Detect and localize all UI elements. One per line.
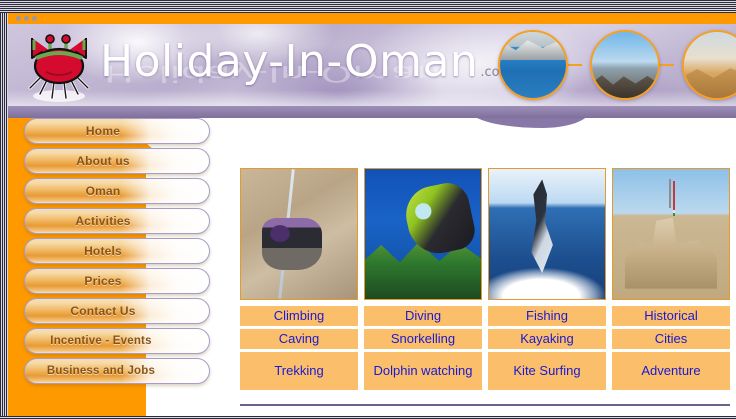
sidebar-item-label: Prices [84,274,121,288]
sidebar-item-label: About us [76,154,130,168]
photo-historical-fort-image [613,169,729,299]
window-dot-1[interactable] [16,16,21,21]
page-root: Holiday-In-Oman Holiday-In-Oman.com Home… [0,0,736,419]
activity-link-dolphin-watching[interactable]: Dolphin watching [364,352,482,390]
window-control-dots[interactable] [16,16,37,21]
sidebar-item-prices[interactable]: Prices [24,268,210,294]
activity-link-climbing[interactable]: Climbing [240,306,358,326]
sidebar-item-label: Home [86,124,120,138]
sidebar-item-label: Activities [75,214,130,228]
sidebar-item-label: Contact Us [70,304,135,318]
site-title-text: Holiday-In-Oman [100,36,478,87]
sidebar-item-label: Oman [86,184,121,198]
activities-label-row-3: Trekking Dolphin watching Kite Surfing A… [240,349,730,390]
header-circle-gallery [476,30,736,102]
page-title: Holiday-In-Oman.com [100,38,512,97]
circle-photo-rocky-coast-image [592,32,658,98]
sidebar-item-label: Hotels [84,244,122,258]
photo-climbing[interactable] [240,168,358,300]
main-content: Climbing Diving Fishing Historical Cavin… [164,118,736,419]
sidebar-item-contact-us[interactable]: Contact Us [24,298,210,324]
activity-link-kayaking[interactable]: Kayaking [488,329,606,349]
photo-fishing-image [489,169,605,299]
crab-icon [20,28,98,104]
photo-historical-fort[interactable] [612,168,730,300]
activities-grid: Climbing Diving Fishing Historical Cavin… [240,168,730,390]
sidebar-item-home[interactable]: Home [24,118,210,144]
circle-photo-desert-image [684,32,736,98]
activity-link-snorkelling[interactable]: Snorkelling [364,329,482,349]
sidebar-item-oman[interactable]: Oman [24,178,210,204]
photo-climbing-image [241,169,357,299]
activities-label-row-2: Caving Snorkelling Kayaking Cities [240,326,730,349]
window-orange-bar [8,13,736,24]
photo-diving[interactable] [364,168,482,300]
circle-photo-rocky-coast[interactable] [590,30,660,100]
window-left-stripes [0,13,8,419]
activities-photo-row [240,168,730,300]
content-divider [240,404,730,406]
sidebar-item-about-us[interactable]: About us [24,148,210,174]
photo-diving-image [365,169,481,299]
site-masthead: Holiday-In-Oman Holiday-In-Oman.com [8,24,736,106]
circle-photo-mountain-lake-image [500,32,566,98]
sidebar-item-label: Business and Jobs [47,365,155,377]
circle-connector-2 [660,64,674,66]
sidebar-item-activities[interactable]: Activities [24,208,210,234]
activities-label-row-1: Climbing Diving Fishing Historical [240,300,730,326]
activity-link-adventure[interactable]: Adventure [612,352,730,390]
window-top-stripes [0,0,736,13]
activity-link-trekking[interactable]: Trekking [240,352,358,390]
circle-photo-mountain-lake[interactable] [498,30,568,100]
activity-link-diving[interactable]: Diving [364,306,482,326]
activity-link-fishing[interactable]: Fishing [488,306,606,326]
sidebar-item-business-and-jobs[interactable]: Business and Jobs [24,358,210,384]
activity-link-historical[interactable]: Historical [612,306,730,326]
circle-photo-desert[interactable] [682,30,736,100]
sidebar-item-incentive-events[interactable]: Incentive - Events [24,328,210,354]
circle-connector-1 [568,64,582,66]
activity-link-kite-surfing[interactable]: Kite Surfing [488,352,606,390]
activity-link-caving[interactable]: Caving [240,329,358,349]
sidebar-item-hotels[interactable]: Hotels [24,238,210,264]
sidebar-nav: Home About us Oman Activities Hotels Pri… [0,118,230,388]
masthead-purple-band [8,106,736,118]
sidebar-item-label: Incentive - Events [50,335,151,347]
photo-fishing[interactable] [488,168,606,300]
window-dot-2[interactable] [24,16,29,21]
window-dot-3[interactable] [32,16,37,21]
activity-link-cities[interactable]: Cities [612,329,730,349]
